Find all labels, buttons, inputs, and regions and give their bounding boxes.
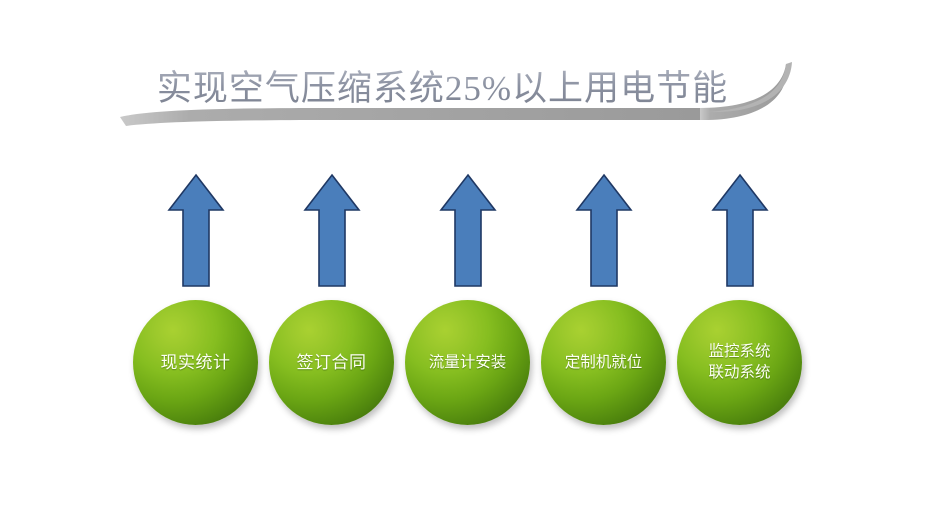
page-title: 实现空气压缩系统25%以上用电节能 <box>0 69 945 109</box>
up-arrow-icon <box>167 172 225 289</box>
process-flow: 现实统计 签订合同 流量计安装 定 <box>133 170 813 430</box>
up-arrow-icon <box>711 172 769 289</box>
slide-canvas: 实现空气压缩系统25%以上用电节能 现实统计 签订合同 <box>0 0 945 529</box>
flow-step-circle[interactable]: 现实统计 <box>133 300 258 425</box>
flow-step-label: 定制机就位 <box>565 353 643 373</box>
flow-step-4[interactable]: 定制机就位 <box>541 170 666 430</box>
flow-step-circle[interactable]: 定制机就位 <box>541 300 666 425</box>
flow-step-5[interactable]: 监控系统 联动系统 <box>677 170 802 430</box>
up-arrow-icon <box>439 172 497 289</box>
flow-step-label: 现实统计 <box>161 352 231 374</box>
flow-step-label: 监控系统 联动系统 <box>708 342 770 384</box>
up-arrow-icon <box>303 172 361 289</box>
flow-step-circle[interactable]: 签订合同 <box>269 300 394 425</box>
up-arrow-icon <box>575 172 633 289</box>
title-banner: 实现空气压缩系统25%以上用电节能 <box>0 22 945 142</box>
flow-step-3[interactable]: 流量计安装 <box>405 170 530 430</box>
flow-step-circle[interactable]: 流量计安装 <box>405 300 530 425</box>
flow-step-circle[interactable]: 监控系统 联动系统 <box>677 300 802 425</box>
flow-step-label: 流量计安装 <box>429 353 507 373</box>
flow-step-2[interactable]: 签订合同 <box>269 170 394 430</box>
flow-step-label: 签订合同 <box>297 352 367 374</box>
flow-step-1[interactable]: 现实统计 <box>133 170 258 430</box>
